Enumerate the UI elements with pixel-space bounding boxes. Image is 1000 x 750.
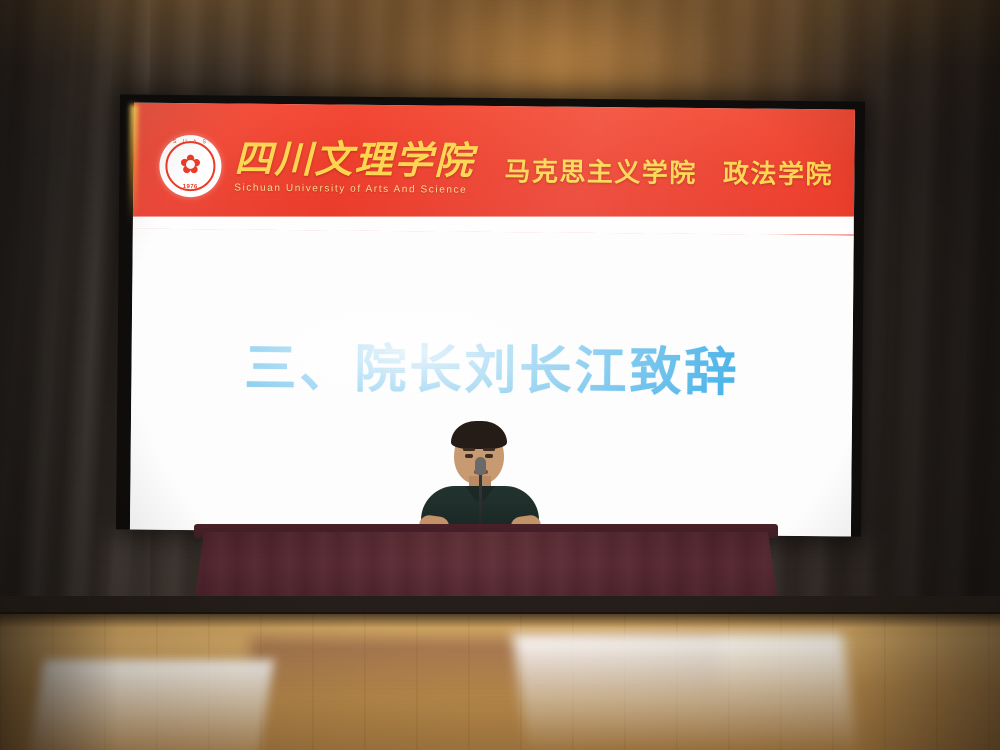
department-names: 马克思主义学院 政法学院 [504,151,833,191]
emblem-arc-letters: S U A S [160,139,222,146]
screen-edge-light-leak [129,105,138,223]
presentation-banner: S U A S ✿ 1976 四川文理学院 Sichuan University… [133,103,855,236]
speaker-eyebrow-left [463,448,475,451]
speaker-eye-left [465,454,473,458]
stage-photograph: S U A S ✿ 1976 四川文理学院 Sichuan University… [0,0,1000,750]
microphone-icon [475,457,486,475]
university-name-block: 四川文理学院 Sichuan University of Arts And Sc… [234,140,475,196]
university-name-cn: 四川文理学院 [234,140,474,182]
speaker-hair [451,421,507,449]
floor-reflection-right [513,634,858,750]
speaker-eye-right [485,454,493,458]
emblem-founded-year: 1976 [159,184,221,191]
stage-floor [0,612,1000,750]
speaker-person [421,424,539,539]
floor-shadow-left [0,612,120,750]
floor-shadow-right [850,612,1000,750]
emblem-phoenix-glyph: ✿ [179,151,201,177]
sichuan-university-emblem-icon: S U A S ✿ 1976 [159,135,222,198]
university-name-en: Sichuan University of Arts And Science [234,182,474,195]
department-name-1: 马克思主义学院 [504,151,697,190]
speaker-eyebrow-right [483,448,495,451]
department-name-2: 政法学院 [723,153,833,191]
